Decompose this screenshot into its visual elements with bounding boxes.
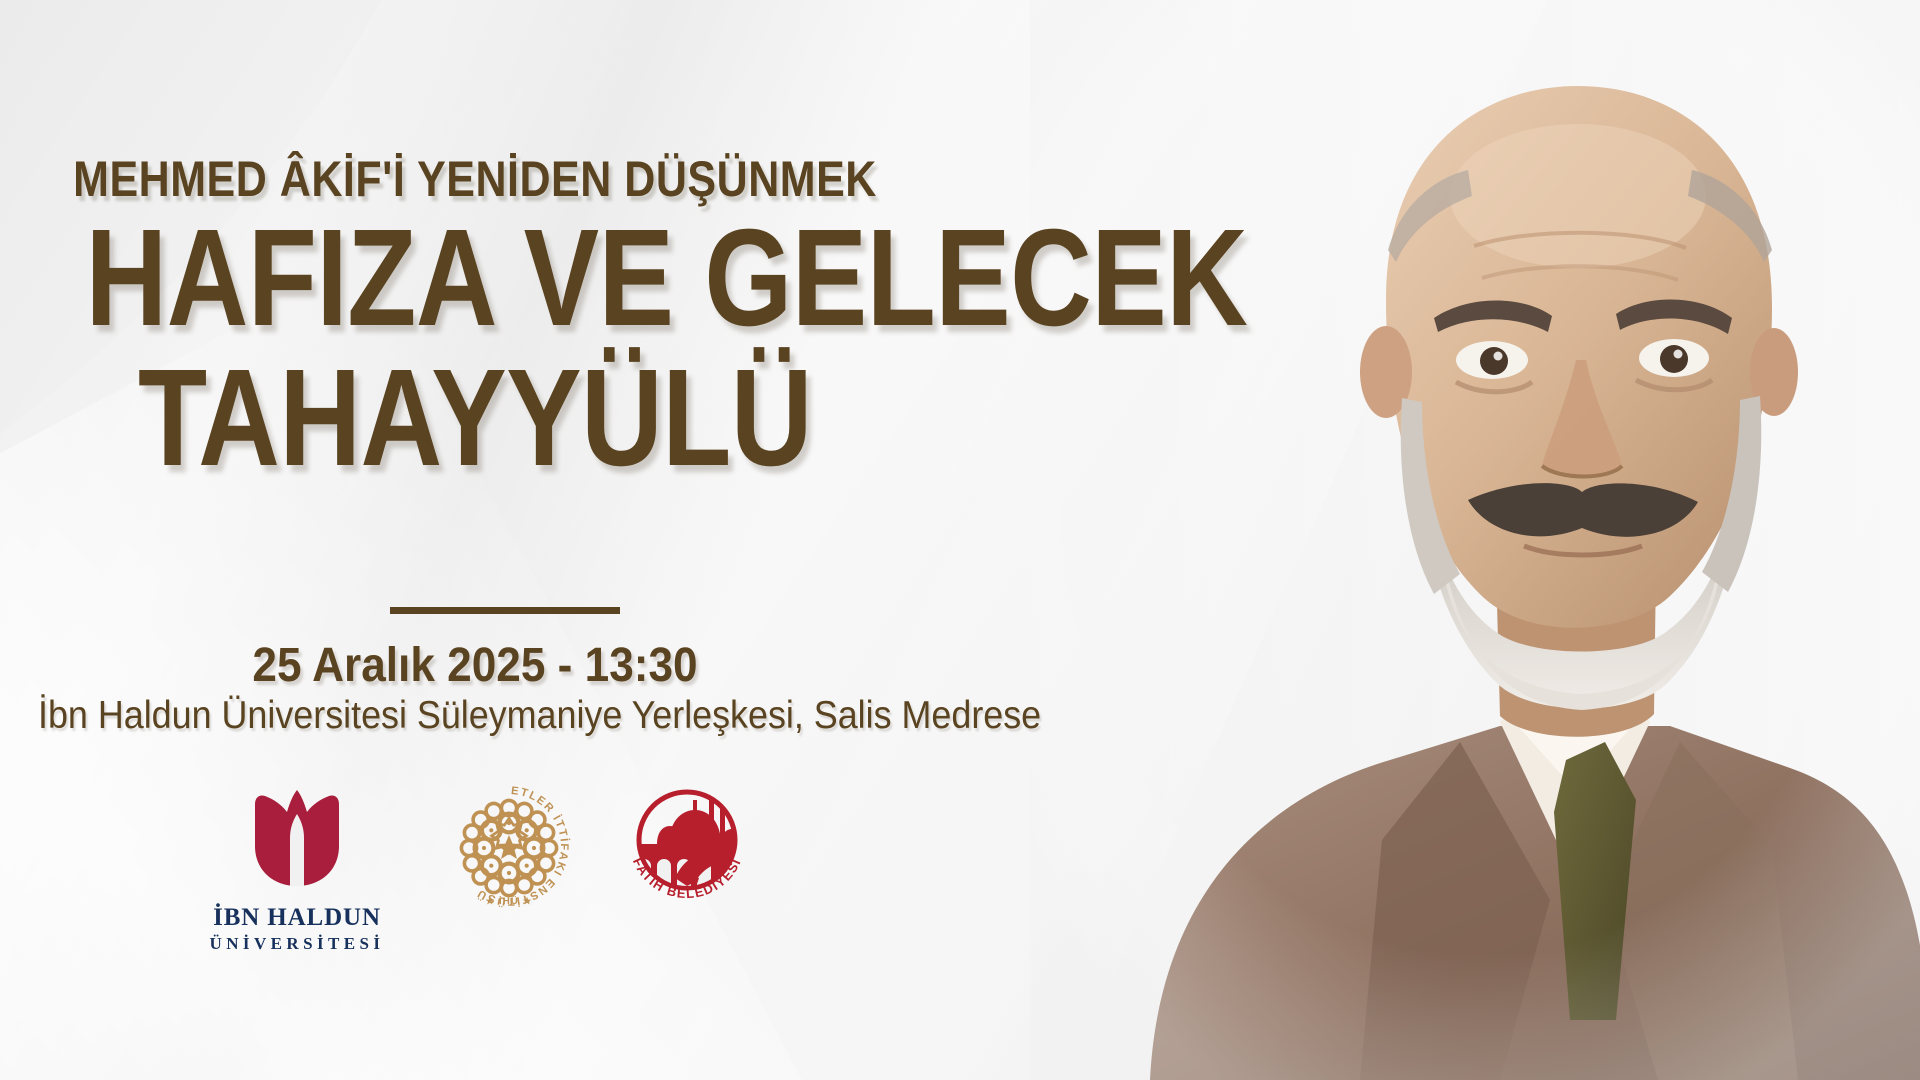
logo-fatih-belediyesi: FATİH BELEDİYESİ bbox=[621, 782, 753, 915]
logo-mie-center-text: ★ İHÜ ★ bbox=[485, 896, 532, 907]
portrait-image bbox=[1030, 0, 1920, 1080]
poster-title-line-1: HAFIZA VE GELECEK bbox=[86, 212, 865, 344]
event-poster: MEHMED ÂKİF'İ YENİDEN DÜŞÜNMEK HAFIZA VE… bbox=[0, 0, 1920, 1080]
event-date-time: 25 Aralık 2025 - 13:30 bbox=[38, 638, 912, 693]
tulip-icon bbox=[197, 788, 397, 897]
logo-ibn-haldun-universitesi: İBN HALDUN ÜNİVERSİTESİ bbox=[197, 782, 397, 954]
logo-ihu-subtitle: ÜNİVERSİTESİ bbox=[197, 934, 397, 954]
poster-title-line-2: TAHAYYÜLÜ bbox=[86, 352, 865, 484]
event-venue: İbn Haldun Üniversitesi Süleymaniye Yerl… bbox=[38, 694, 912, 738]
fatih-belediyesi-seal-icon: FATİH BELEDİYESİ bbox=[621, 782, 753, 910]
rosette-seal-icon: MEDENİYETLER İTTİFAKI ENSTİTÜSÜ bbox=[445, 782, 573, 910]
logo-row: İBN HALDUN ÜNİVERSİTESİ MEDENİYETLER İTT… bbox=[0, 782, 950, 954]
poster-eyebrow: MEHMED ÂKİF'İ YENİDEN DÜŞÜNMEK bbox=[67, 150, 884, 208]
logo-ihu-name: İBN HALDUN bbox=[197, 904, 397, 932]
logo-medeniyetler-ittifaki-enstitusu: MEDENİYETLER İTTİFAKI ENSTİTÜSÜ bbox=[445, 782, 573, 915]
poster-text-column: MEHMED ÂKİF'İ YENİDEN DÜŞÜNMEK HAFIZA VE… bbox=[0, 0, 1120, 1080]
title-divider-rule bbox=[390, 607, 620, 614]
